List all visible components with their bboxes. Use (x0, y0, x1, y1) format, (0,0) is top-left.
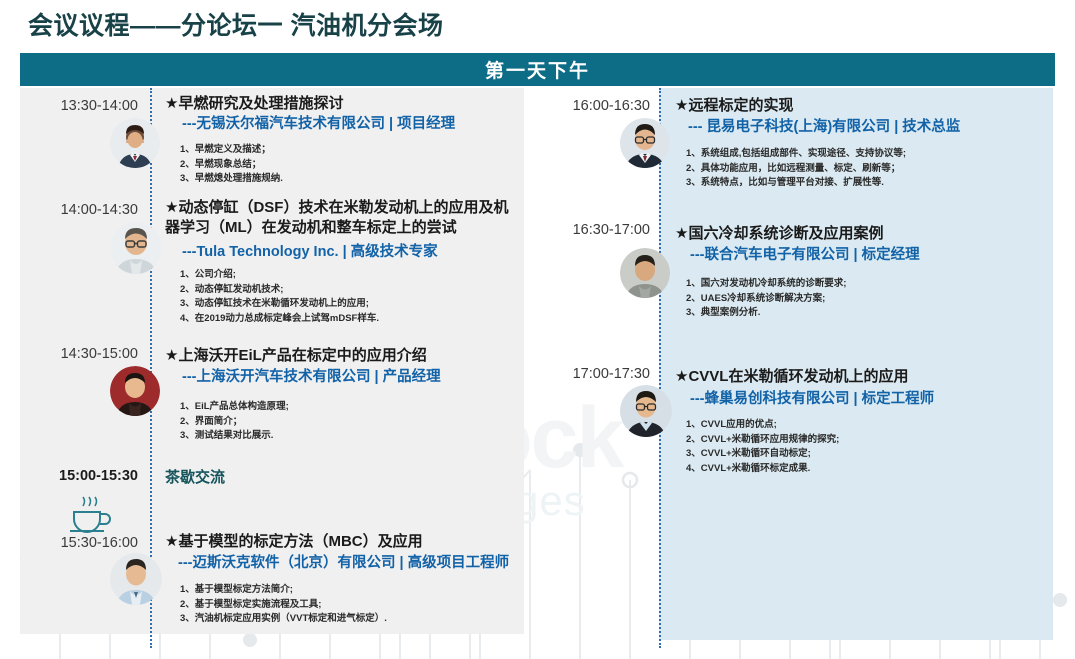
page-title: 会议议程——分论坛一 汽油机分会场 (28, 6, 443, 42)
session-time: 15:00-15:30 (28, 468, 138, 484)
bullet-item: 3、测试结果对比展示. (180, 429, 289, 444)
session-time: 16:30-17:00 (540, 222, 650, 238)
bullet-item: 1、基于模型标定方法简介; (180, 583, 387, 598)
session-time: 14:00-14:30 (28, 202, 138, 218)
agenda-page: stock images 会议议程——分论坛一 汽油机分会场 第一天下午 13:… (0, 0, 1075, 659)
session-organization: ---联合汽车电子有限公司 | 标定经理 (690, 246, 920, 265)
bullet-item: 2、界面简介； (180, 415, 289, 430)
session-title: ★动态停缸（DSF）技术在米勒发动机上的应用及机器学习（ML）在发动机和整车标定… (165, 198, 515, 239)
bullet-item: 1、国六对发动机冷却系统的诊断要求; (686, 277, 846, 292)
day-banner: 第一天下午 (20, 53, 1055, 86)
session-title: ★上海沃开EiL产品在标定中的应用介绍 (165, 346, 515, 366)
session-time: 16:00-16:30 (540, 98, 650, 114)
session-bullets: 1、EiL产品总体构造原理; 2、界面简介； 3、测试结果对比展示. (180, 400, 289, 444)
speaker-avatar (110, 366, 160, 416)
speaker-avatar (110, 118, 160, 168)
bullet-item: 1、早燃定义及描述； (180, 143, 283, 158)
bullet-item: 3、典型案例分析. (686, 306, 846, 321)
session-title: ★CVVL在米勒循环发动机上的应用 (675, 367, 1045, 387)
speaker-avatar (110, 553, 162, 605)
bullet-item: 3、汽油机标定应用实例（VVT标定和进气标定）. (180, 612, 387, 627)
speaker-avatar (620, 118, 670, 168)
session-title: ★国六冷却系统诊断及应用案例 (675, 224, 1045, 244)
bullet-item: 3、CVVL+米勒循环自动标定; (686, 447, 839, 462)
session-time: 17:00-17:30 (540, 366, 650, 382)
session-time: 13:30-14:00 (28, 98, 138, 114)
bullet-item: 1、CVVL应用的优点; (686, 418, 839, 433)
session-organization: ---迈斯沃克软件（北京）有限公司 | 高级项目工程师 (178, 554, 509, 573)
session-title: 茶歇交流 (165, 468, 515, 488)
session-bullets: 1、早燃定义及描述； 2、早燃现象总结； 3、早燃熄处理措施规纳. (180, 143, 283, 187)
bullet-item: 3、早燃熄处理措施规纳. (180, 172, 283, 187)
bullet-item: 2、动态停缸发动机技术; (180, 283, 379, 298)
bullet-item: 2、基于模型标定实施流程及工具; (180, 598, 387, 613)
bullet-item: 4、CVVL+米勒循环标定成果. (686, 462, 839, 477)
session-bullets: 1、基于模型标定方法简介; 2、基于模型标定实施流程及工具; 3、汽油机标定应用… (180, 583, 387, 627)
bullet-item: 4、在2019动力总成标定峰会上试驾mDSF样车. (180, 312, 379, 327)
coffee-cup-icon (60, 490, 116, 536)
session-title: ★基于模型的标定方法（MBC）及应用 (165, 532, 515, 552)
bullet-item: 2、CVVL+米勒循环应用规律的探究; (686, 433, 839, 448)
speaker-avatar (620, 385, 672, 437)
right-column-divider (659, 88, 661, 648)
session-title: ★早燃研究及处理措施探讨 (165, 94, 515, 114)
session-bullets: 1、公司介绍; 2、动态停缸发动机技术; 3、动态停缸技术在米勒循环发动机上的应… (180, 268, 379, 327)
speaker-avatar (620, 248, 670, 298)
session-organization: ---上海沃开汽车技术有限公司 | 产品经理 (182, 368, 441, 387)
speaker-avatar (110, 222, 162, 274)
bullet-item: 1、EiL产品总体构造原理; (180, 400, 289, 415)
session-time: 15:30-16:00 (28, 535, 138, 551)
bullet-item: 2、早燃现象总结； (180, 158, 283, 173)
session-organization: ---Tula Technology Inc. | 高级技术专家 (182, 243, 438, 262)
session-organization: --- 昆易电子科技(上海)有限公司 | 技术总监 (688, 118, 960, 137)
bullet-item: 2、UAES冷却系统诊断解决方案; (686, 292, 846, 307)
bullet-item: 3、动态停缸技术在米勒循环发动机上的应用; (180, 297, 379, 312)
bullet-item: 1、公司介绍; (180, 268, 379, 283)
session-bullets: 1、CVVL应用的优点; 2、CVVL+米勒循环应用规律的探究; 3、CVVL+… (686, 418, 839, 477)
day-banner-label: 第一天下午 (485, 56, 590, 83)
session-organization: ---无锡沃尔福汽车技术有限公司 | 项目经理 (182, 115, 455, 134)
bullet-item: 1、系统组成,包括组成部件、实现途径、支持协议等; (686, 147, 906, 162)
session-title: ★远程标定的实现 (675, 96, 1045, 116)
session-bullets: 1、国六对发动机冷却系统的诊断要求; 2、UAES冷却系统诊断解决方案; 3、典… (686, 277, 846, 321)
bullet-item: 3、系统特点，比如与管理平台对接、扩展性等. (686, 176, 906, 191)
session-time: 14:30-15:00 (28, 346, 138, 362)
bullet-item: 2、具体功能应用，比如远程测量、标定、刷新等； (686, 162, 906, 177)
session-bullets: 1、系统组成,包括组成部件、实现途径、支持协议等; 2、具体功能应用，比如远程测… (686, 147, 906, 191)
session-organization: ---蜂巢易创科技有限公司 | 标定工程师 (690, 390, 934, 409)
